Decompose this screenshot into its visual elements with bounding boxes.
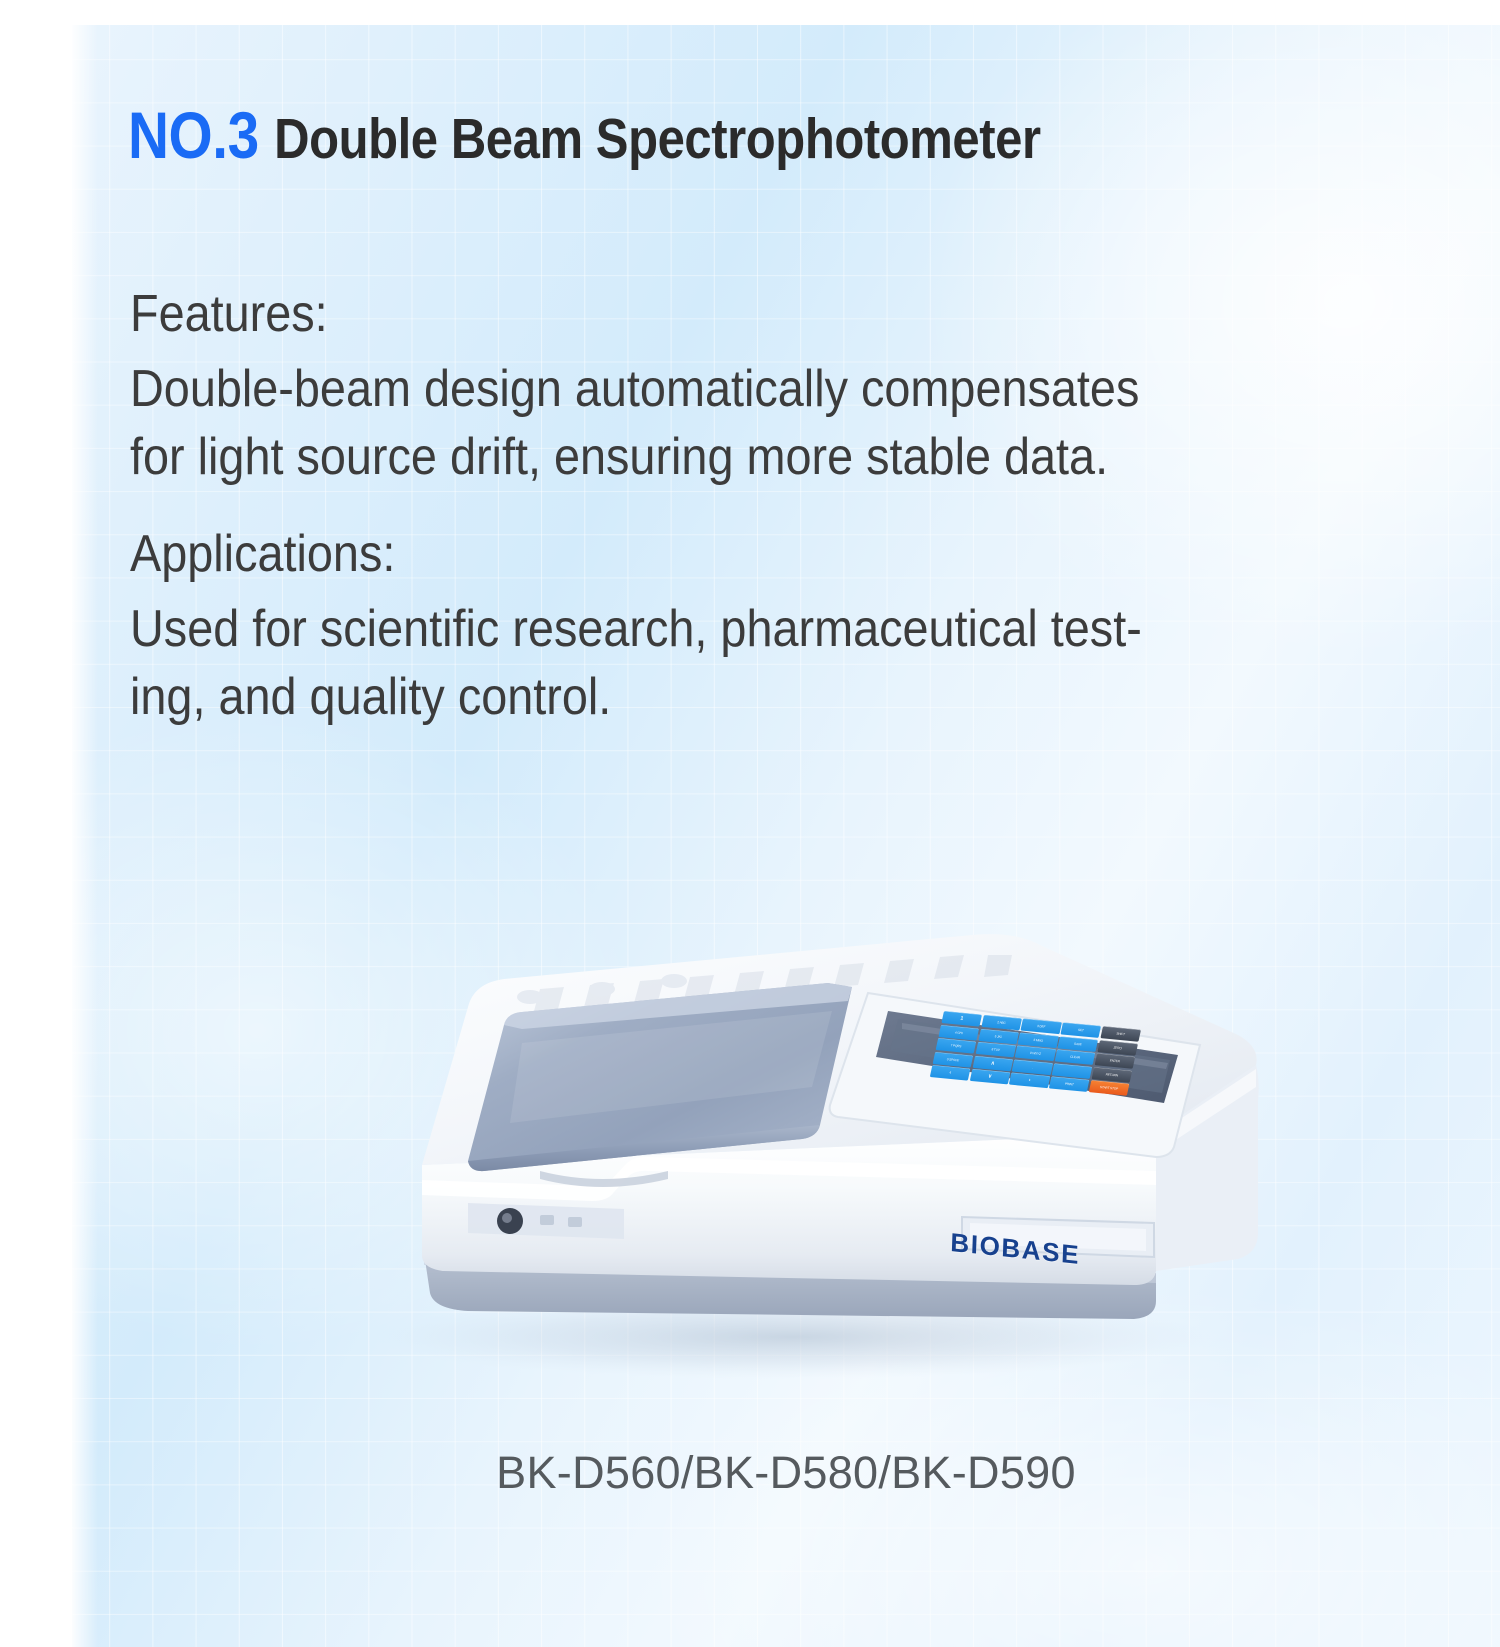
- keypad-key-label: PRINT: [1049, 1077, 1090, 1093]
- spectrophotometer-illustration: [272, 865, 1302, 1385]
- keypad-key-label: ‹: [930, 1065, 971, 1081]
- applications-heading: Applications:: [130, 520, 1237, 588]
- keypad-key-[interactable]: ‹: [930, 1065, 971, 1081]
- connector-slot-1: [540, 1215, 554, 1225]
- promo-panel: NO.3 Double Beam Spectrophotometer Featu…: [72, 25, 1500, 1647]
- model-caption: BK-D560/BK-D580/BK-D590: [72, 1447, 1500, 1499]
- features-heading: Features:: [130, 280, 1237, 348]
- applications-body: Used for scientific research, pharmaceut…: [130, 595, 1237, 731]
- keypad-key-label: ›: [1009, 1073, 1050, 1089]
- features-line-2: for light source drift, ensuring more st…: [130, 423, 1237, 491]
- keypad-key-label: START STOP: [1089, 1080, 1130, 1096]
- keypad-key-print[interactable]: PRINT: [1049, 1077, 1090, 1093]
- features-line-1: Double-beam design automatically compens…: [130, 355, 1237, 423]
- keypad-key-start-stop[interactable]: START STOP: [1089, 1080, 1130, 1096]
- product-photo: 12 ABC3 DEFSETSHIFT4 GHI5 JKL6 MNOSAVEZE…: [272, 865, 1302, 1385]
- applications-line-2: ing, and quality control.: [130, 663, 1237, 731]
- keypad-key-label: ∨: [969, 1069, 1010, 1085]
- title-number: NO.3: [128, 98, 259, 172]
- page-title: NO.3 Double Beam Spectrophotometer: [128, 97, 1041, 173]
- keypad-key-[interactable]: ›: [1009, 1073, 1050, 1089]
- applications-line-1: Used for scientific research, pharmaceut…: [130, 595, 1237, 663]
- connector-slot-2: [568, 1217, 582, 1227]
- lid-indent-1: [517, 990, 543, 1004]
- title-text: Double Beam Spectrophotometer: [274, 107, 1041, 171]
- lid-indent-3: [661, 974, 687, 988]
- keypad-key-[interactable]: ∨: [969, 1069, 1010, 1085]
- features-body: Double-beam design automatically compens…: [130, 355, 1237, 491]
- lid-indent-2: [589, 982, 615, 996]
